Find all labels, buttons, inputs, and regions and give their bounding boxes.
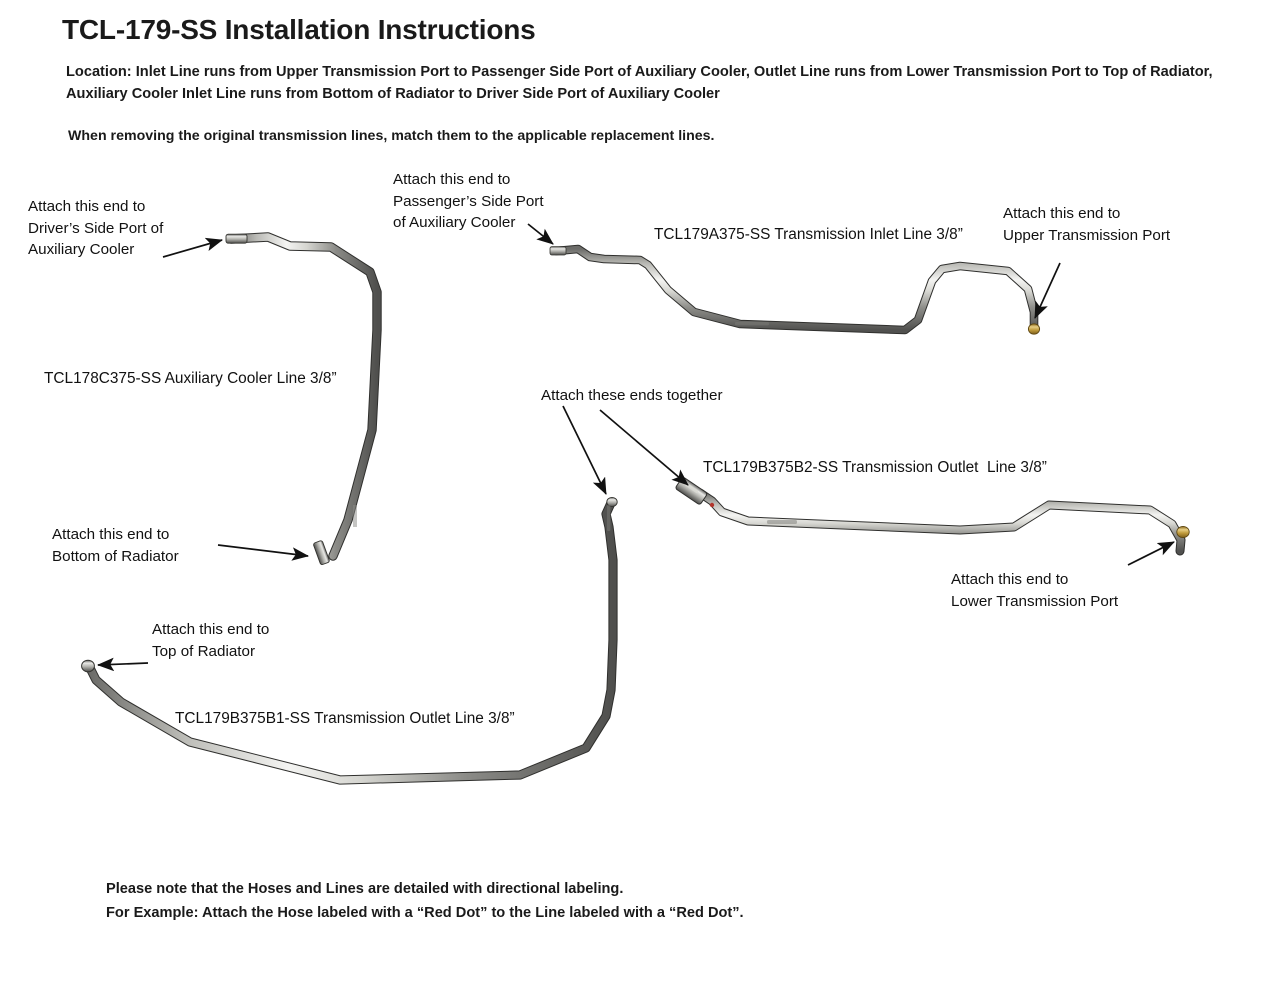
callout-upper-transmission-port: Attach this end to Upper Transmission Po…	[1003, 203, 1170, 246]
footer-notes: Please note that the Hoses and Lines are…	[106, 878, 744, 925]
outlet-line-b2-print	[767, 520, 797, 524]
arrow-to-joint-b2-end	[600, 410, 688, 485]
location-note: Location: Inlet Line runs from Upper Tra…	[66, 62, 1246, 105]
part-label-outlet-line-b2: TCL179B375B2-SS Transmission Outlet Line…	[703, 459, 1047, 477]
instruction-sheet-page: TCL-179-SS Installation Instructions Loc…	[0, 0, 1280, 989]
page-title: TCL-179-SS Installation Instructions	[62, 14, 536, 46]
part-outlet-line-b2	[675, 477, 1189, 551]
match-note: When removing the original transmission …	[68, 127, 714, 147]
arrow-to-top-of-radiator	[98, 663, 148, 665]
outlet-line-b1-print	[607, 505, 610, 531]
callout-attach-ends-together: Attach these ends together	[541, 385, 723, 407]
part-label-outlet-line-b1: TCL179B375B1-SS Transmission Outlet Line…	[175, 710, 515, 728]
arrow-to-lower-transmission-port	[1128, 542, 1174, 565]
outlet-line-b1-left-fitting	[82, 660, 95, 672]
inlet-line-left-fitting	[550, 247, 566, 255]
arrow-to-joint-b1-end	[563, 406, 606, 494]
aux-cooler-line-print	[353, 505, 357, 527]
arrow-to-upper-transmission-port	[1035, 263, 1060, 318]
part-label-inlet-line: TCL179A375-SS Transmission Inlet Line 3/…	[654, 226, 963, 244]
callout-bottom-of-radiator: Attach this end to Bottom of Radiator	[52, 524, 179, 567]
aux-cooler-line-bottom-fitting	[313, 540, 330, 565]
callout-passenger-side-port: Attach this end to Passenger’s Side Port…	[393, 169, 544, 234]
outlet-line-b2-red-dot	[710, 503, 714, 507]
inlet-line-print	[735, 322, 769, 325]
callout-top-of-radiator: Attach this end to Top of Radiator	[152, 619, 269, 662]
outlet-line-b2-coupler	[675, 477, 708, 505]
arrow-to-bottom-of-radiator	[218, 545, 308, 556]
aux-cooler-line-top-fitting	[226, 234, 247, 243]
callout-driver-side-port: Attach this end to Driver’s Side Port of…	[28, 196, 163, 261]
part-inlet-line	[550, 247, 1040, 335]
callout-lower-transmission-port: Attach this end to Lower Transmission Po…	[951, 569, 1118, 612]
arrow-to-driver-side-port	[163, 240, 222, 257]
inlet-line-right-brass-fitting	[1028, 324, 1039, 334]
part-label-aux-cooler-line: TCL178C375-SS Auxiliary Cooler Line 3/8”	[44, 370, 337, 388]
outlet-line-b2-right-brass-fitting	[1177, 526, 1189, 537]
part-aux-cooler-line	[226, 234, 377, 565]
transmission-lines-diagram	[0, 0, 1280, 989]
inlet-line-tube	[556, 249, 1034, 330]
